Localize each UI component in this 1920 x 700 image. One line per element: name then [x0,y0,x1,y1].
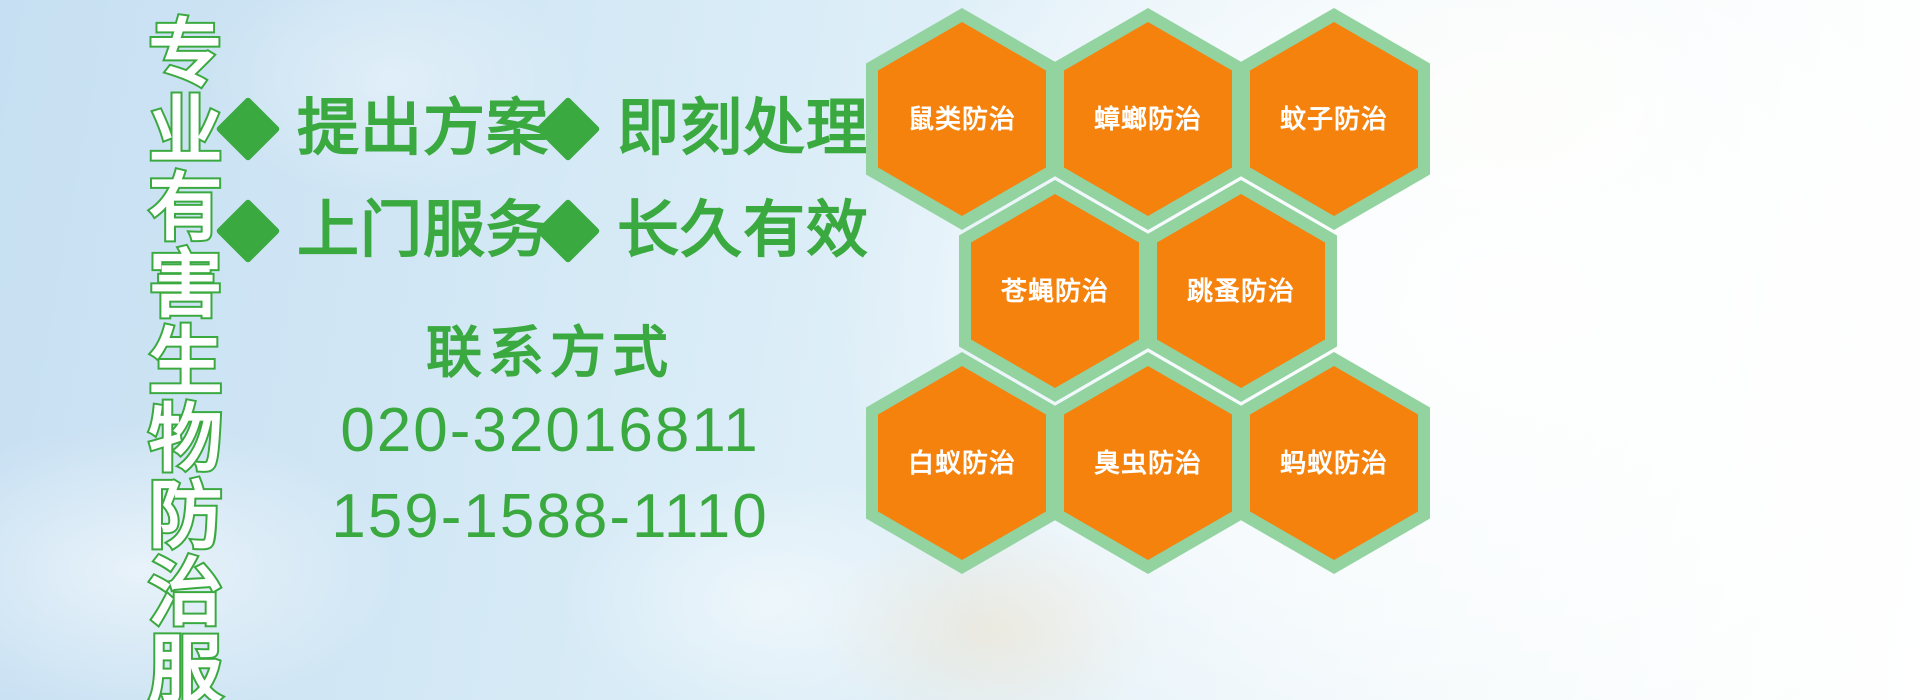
vertical-headline: 专业有害生物防治服务 [105,14,217,574]
feature-item-propose-plan[interactable]: 提出方案 [225,98,545,160]
hex-inner: 蚊子防治 [1250,22,1418,216]
feature-label: 即刻处理 [617,98,869,160]
honeycomb-service-grid: 鼠类防治 蟑螂防治 蚊子防治 苍蝇防治 跳蚤防治 白蚁防治 [858,0,1458,570]
hex-inner: 蟑螂防治 [1064,22,1232,216]
feature-item-door-to-door-service[interactable]: 上门服务 [225,200,545,262]
hex-label: 跳蚤防治 [1187,278,1295,304]
hex-inner: 鼠类防治 [878,22,1046,216]
contact-title: 联系方式 [300,318,800,388]
diamond-icon [215,198,280,263]
hex-inner: 臭虫防治 [1064,366,1232,560]
hex-label: 蚂蚁防治 [1280,450,1388,476]
diamond-icon [535,96,600,161]
hex-inner: 白蚁防治 [878,366,1046,560]
contact-block: 联系方式 020-32016811 159-1588-1110 [300,318,800,559]
phone-number-mobile[interactable]: 159-1588-1110 [300,474,800,560]
diamond-icon [535,198,600,263]
phone-number-landline[interactable]: 020-32016811 [300,388,800,474]
feature-label: 长久有效 [617,200,869,262]
diamond-icon [215,96,280,161]
hex-label: 白蚁防治 [908,450,1016,476]
hex-label: 鼠类防治 [908,106,1016,132]
feature-list: 提出方案 即刻处理 上门服务 长久有效 [225,78,865,282]
banner-stage: 专业有害生物防治服务 提出方案 即刻处理 上门服务 长久有效 联系方式 [0,0,1920,700]
feature-item-long-lasting-effect[interactable]: 长久有效 [545,200,865,262]
feature-label: 上门服务 [297,200,549,262]
hex-label: 苍蝇防治 [1001,278,1109,304]
hex-inner: 苍蝇防治 [971,194,1139,388]
feature-item-immediate-handling[interactable]: 即刻处理 [545,98,865,160]
feature-row: 提出方案 即刻处理 [225,78,865,180]
hex-inner: 跳蚤防治 [1157,194,1325,388]
hex-label: 蚊子防治 [1280,106,1388,132]
hex-inner: 蚂蚁防治 [1250,366,1418,560]
hex-label: 臭虫防治 [1094,450,1202,476]
feature-label: 提出方案 [297,98,549,160]
hex-label: 蟑螂防治 [1094,106,1202,132]
feature-row: 上门服务 长久有效 [225,180,865,282]
